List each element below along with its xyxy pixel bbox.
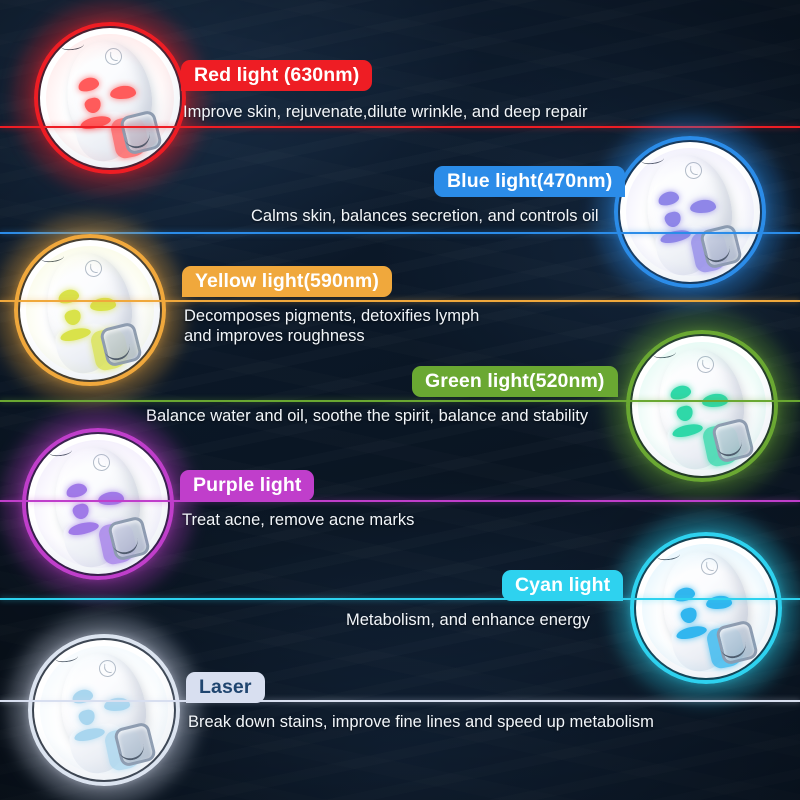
mask-photo-purple — [22, 428, 174, 580]
mask-brow-line — [61, 40, 85, 52]
light-label-purple: Purple light — [180, 470, 314, 501]
mask-brow-line — [657, 550, 681, 562]
led-mask-purple — [49, 447, 145, 571]
led-mask-green — [653, 349, 749, 473]
divider-line-cyan — [0, 598, 800, 600]
light-description-cyan: Metabolism, and enhance energy — [346, 610, 676, 630]
infographic-canvas: Red light (630nm)Improve skin, rejuvenat… — [0, 0, 800, 800]
light-label-laser: Laser — [186, 672, 265, 703]
mask-photo-green — [626, 330, 778, 482]
mask-photo-red — [34, 22, 186, 174]
mask-disc — [632, 336, 772, 476]
led-mask-red — [61, 41, 157, 165]
divider-line-laser — [0, 700, 800, 702]
mask-photo-cyan — [630, 532, 782, 684]
led-mask-laser — [55, 653, 151, 777]
mask-brow-line — [641, 154, 665, 166]
mask-brow-line — [653, 348, 677, 360]
light-label-cyan: Cyan light — [502, 570, 623, 601]
led-mask-yellow — [41, 253, 137, 377]
light-description-laser: Break down stains, improve fine lines an… — [188, 712, 688, 732]
light-description-blue: Calms skin, balances secretion, and cont… — [251, 206, 651, 226]
light-description-yellow: Decomposes pigments, detoxifies lymph an… — [184, 306, 614, 346]
mask-disc — [20, 240, 160, 380]
light-label-blue: Blue light(470nm) — [434, 166, 625, 197]
mask-brow-line — [49, 446, 73, 458]
mask-disc — [40, 28, 180, 168]
mask-brow-line — [41, 252, 65, 264]
led-mask-blue — [641, 155, 737, 279]
light-description-purple: Treat acne, remove acne marks — [182, 510, 602, 530]
divider-line-purple — [0, 500, 800, 502]
light-label-red: Red light (630nm) — [181, 60, 372, 91]
mask-brow-line — [55, 652, 79, 664]
light-description-red: Improve skin, rejuvenate,dilute wrinkle,… — [183, 102, 653, 122]
mask-disc — [34, 640, 174, 780]
divider-line-yellow — [0, 300, 800, 302]
light-label-green: Green light(520nm) — [412, 366, 618, 397]
divider-line-green — [0, 400, 800, 402]
light-label-yellow: Yellow light(590nm) — [182, 266, 392, 297]
mask-disc — [636, 538, 776, 678]
light-description-green: Balance water and oil, soothe the spirit… — [146, 406, 616, 426]
mask-disc — [28, 434, 168, 574]
mask-photo-yellow — [14, 234, 166, 386]
mask-photo-laser — [28, 634, 180, 786]
